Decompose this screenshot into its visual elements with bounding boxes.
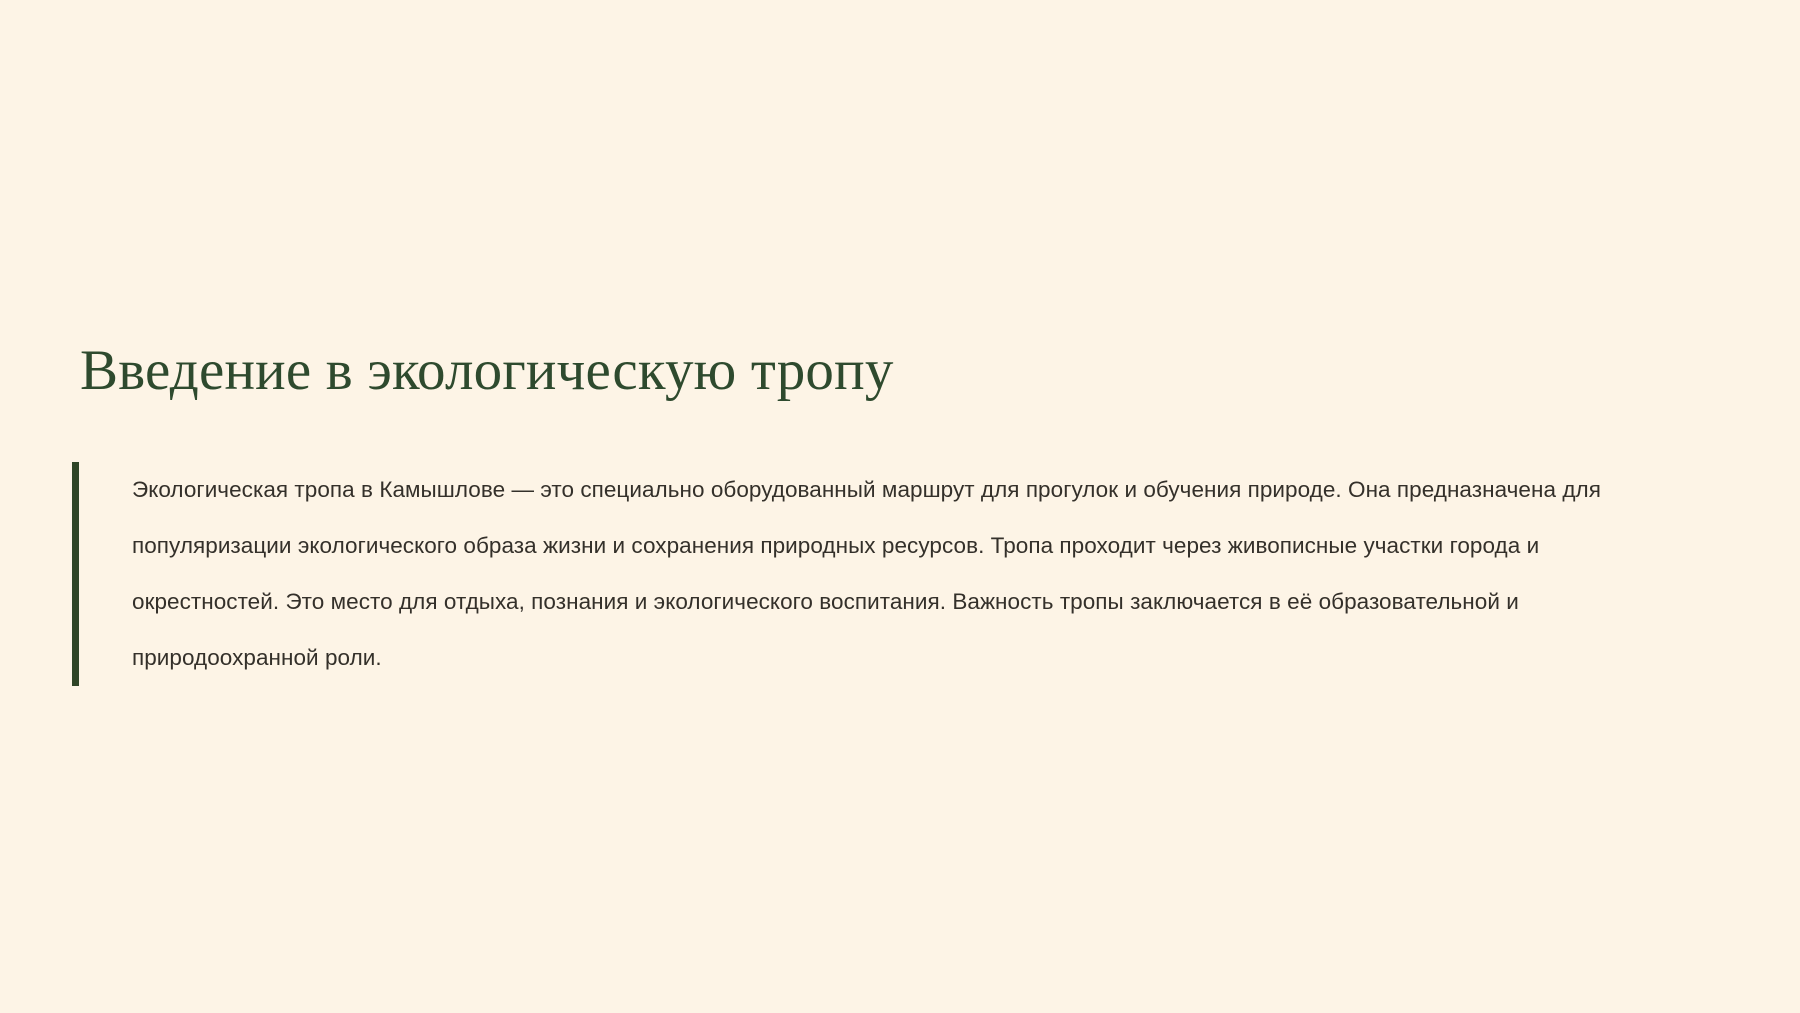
slide-root: Введение в экологическую тропу Экологиче… — [0, 0, 1800, 1013]
intro-paragraph: Экологическая тропа в Камышлове — это сп… — [79, 462, 1642, 686]
accent-bar — [72, 462, 79, 686]
intro-callout: Экологическая тропа в Камышлове — это сп… — [72, 462, 1712, 686]
page-title: Введение в экологическую тропу — [80, 340, 894, 403]
